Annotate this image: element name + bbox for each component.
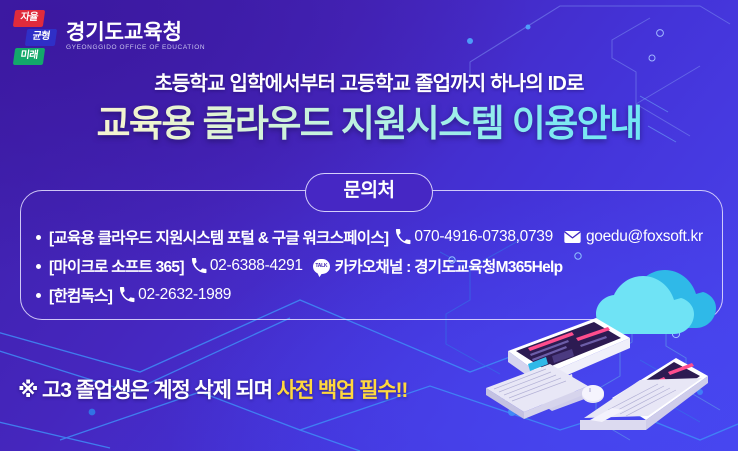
contact-phone-portal: 070-4916-0738,0739 — [414, 228, 553, 246]
badge-jayul: 자율 — [13, 10, 45, 27]
kakaotalk-icon: TALK — [313, 259, 330, 274]
bullet-icon — [36, 235, 41, 240]
bullet-icon — [36, 293, 41, 298]
logo-english-name: GYEONGGIDO OFFICE OF EDUCATION — [66, 45, 205, 52]
cloud-icon — [596, 270, 716, 334]
poster-banner: 자율 균형 미래 경기도교육청 GYEONGGIDO OFFICE OF EDU… — [0, 0, 738, 451]
contact-label-hancomdocs: [한컴독스] — [49, 284, 112, 306]
badge-gyunhyeong: 균형 — [25, 29, 57, 46]
kakao-bubble-shape: TALK — [313, 259, 330, 274]
contact-pill-label: 문의처 — [305, 173, 434, 212]
phone-icon — [395, 229, 411, 245]
kakao-talk-label: TALK — [315, 264, 327, 269]
contact-label-portal: [교육용 클라우드 지원시스템 포털 & 구글 워크스페이스] — [49, 226, 388, 248]
bullet-icon — [36, 264, 41, 269]
phone-icon — [119, 287, 135, 303]
headline-title: 교육용 클라우드 지원시스템 이용안내 — [0, 102, 738, 146]
contact-pill-wrapper: 문의처 — [0, 173, 738, 212]
mail-icon — [564, 230, 581, 244]
contact-phone-m365: 02-6388-4291 — [210, 257, 303, 275]
cloud-devices-illustration — [480, 250, 738, 451]
headline-subtitle: 초등학교 입학에서부터 고등학교 졸업까지 하나의 ID로 — [0, 72, 738, 97]
contact-phone-hancomdocs: 02-2632-1989 — [138, 286, 231, 304]
notice-highlight: 사전 백업 필수!! — [277, 379, 408, 402]
phone-icon — [191, 258, 207, 274]
badge-mirae: 미래 — [13, 48, 45, 65]
logo-slogan-badges: 자율 균형 미래 — [14, 10, 58, 65]
logo-korean-name: 경기도교육청 — [66, 22, 205, 44]
organization-logo: 자율 균형 미래 경기도교육청 GYEONGGIDO OFFICE OF EDU… — [14, 10, 205, 65]
headline-block: 초등학교 입학에서부터 고등학교 졸업까지 하나의 ID로 교육용 클라우드 지… — [0, 72, 738, 146]
contact-email-portal: goedu@foxsoft.kr — [586, 228, 703, 246]
logo-text-block: 경기도교육청 GYEONGGIDO OFFICE OF EDUCATION — [66, 22, 205, 54]
contact-row-portal: [교육용 클라우드 지원시스템 포털 & 구글 워크스페이스] 070-4916… — [36, 226, 716, 248]
notice-prefix: ※ 고3 졸업생은 계정 삭제 되며 — [18, 379, 272, 402]
bottom-notice: ※ 고3 졸업생은 계정 삭제 되며 사전 백업 필수!! — [18, 374, 407, 404]
contact-label-m365: [마이크로 소프트 365] — [49, 255, 184, 277]
mouse — [582, 385, 604, 403]
